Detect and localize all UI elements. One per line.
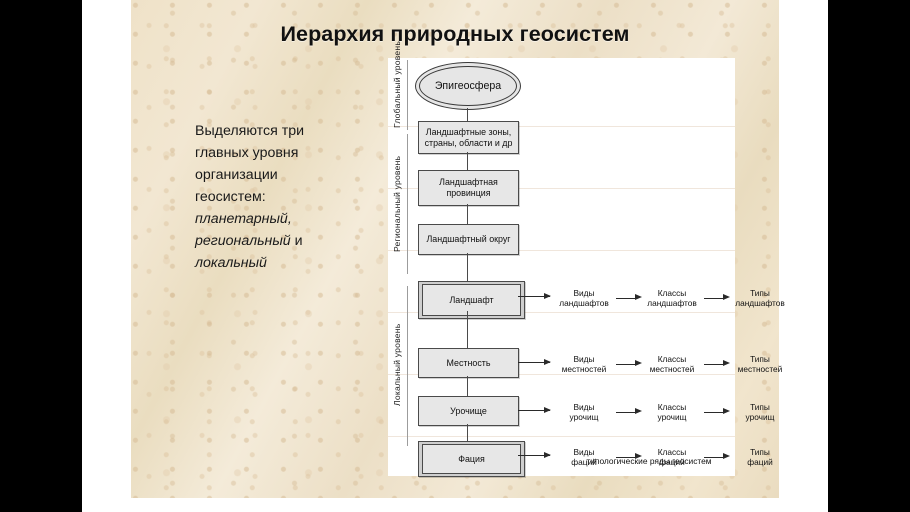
chain-cell: Классы ландшафтов (642, 288, 702, 308)
chain-arrow-icon (614, 293, 642, 303)
guide-line (388, 436, 735, 437)
node-landscape-district-label: Ландшафтный округ (426, 234, 510, 245)
node-locality-label: Местность (447, 358, 491, 369)
connector-vertical (467, 424, 468, 441)
lead-emph-2-row: региональный и (195, 230, 360, 252)
chain-cell: Типы фаций (730, 447, 790, 467)
chain-cell: Классы урочищ (642, 402, 702, 422)
slide: Иерархия природных геосистем Выделяются … (131, 0, 779, 498)
node-landscape-zones-label-2: страны, области и др (425, 138, 513, 149)
node-facies-label: Фация (458, 454, 485, 465)
chain-cell: Типы ландшафтов (730, 288, 790, 308)
node-tract[interactable]: Урочище (418, 396, 519, 426)
level-rule-global (407, 60, 408, 130)
lead-paragraph: Выделяются три главных уровня организаци… (195, 120, 360, 274)
chain-cell-line-1: Типы (730, 402, 790, 412)
lead-line-4: геосистем: (195, 186, 360, 208)
chain-cell-line-1: Виды (554, 354, 614, 364)
chain-arrow-icon (702, 407, 730, 417)
chain-cell-line-1: Классы (642, 288, 702, 298)
hierarchy-diagram: Глобальный уровень Региональный уровень … (388, 58, 735, 476)
node-landscape-province-label-1: Ландшафтная (439, 177, 498, 188)
node-epigeosphere[interactable]: Эпигеосфера (415, 62, 521, 110)
node-landscape-zones-label-1: Ландшафтные зоны, (425, 127, 513, 138)
node-landscape-province[interactable]: Ландшафтная провинция (418, 170, 519, 206)
chain-cell-line-2: ландшафтов (642, 298, 702, 308)
diagram-footnote: типологические ряды геосистем (564, 456, 734, 466)
chain-arrow-icon (702, 293, 730, 303)
chain-tract: Виды урочищ Классы урочищ Типы урочищ (554, 402, 790, 422)
chain-cell-line-1: Классы (642, 354, 702, 364)
lead-conjunction: и (291, 233, 303, 249)
chain-cell: Типы урочищ (730, 402, 790, 422)
node-epigeosphere-label: Эпигеосфера (435, 80, 501, 92)
node-locality[interactable]: Местность (418, 348, 519, 378)
screenshot-root: Иерархия природных геосистем Выделяются … (0, 0, 910, 512)
chain-locality: Виды местностей Классы местностей Типы м… (554, 354, 790, 374)
connector-vertical (467, 152, 468, 170)
chain-cell-line-2: урочищ (642, 412, 702, 422)
lead-emph-1: планетарный, (195, 208, 360, 230)
chain-cell-line-2: местностей (730, 364, 790, 374)
chain-arrow-icon (614, 407, 642, 417)
arrow-landscape-to-chain (518, 296, 550, 297)
chain-cell-line-2: ландшафтов (730, 298, 790, 308)
lead-line-3: организации (195, 164, 360, 186)
lead-line-2: главных уровня (195, 142, 360, 164)
node-facies[interactable]: Фация (418, 441, 525, 477)
level-label-local: Локальный уровень (392, 290, 402, 440)
node-landscape-zones[interactable]: Ландшафтные зоны, страны, области и др (418, 121, 519, 154)
node-tract-label: Урочище (450, 406, 487, 417)
page-title: Иерархия природных геосистем (131, 22, 779, 47)
chain-landscape: Виды ландшафтов Классы ландшафтов Типы л… (554, 288, 790, 308)
chain-cell-line-1: Виды (554, 288, 614, 298)
chain-cell-line-2: фаций (730, 457, 790, 467)
level-rule-regional (407, 134, 408, 274)
chain-cell-line-1: Типы (730, 288, 790, 298)
arrow-locality-to-chain (518, 362, 550, 363)
lead-emph-2: региональный (195, 233, 291, 249)
chain-cell-line-1: Типы (730, 447, 790, 457)
chain-cell: Классы местностей (642, 354, 702, 374)
chain-cell: Виды урочищ (554, 402, 614, 422)
chain-cell-line-2: урочищ (554, 412, 614, 422)
chain-arrow-icon (702, 359, 730, 369)
chain-cell-line-2: ландшафтов (554, 298, 614, 308)
arrow-tract-to-chain (518, 410, 550, 411)
lead-emph-3: локальный (195, 252, 360, 274)
connector-vertical (467, 311, 468, 348)
level-label-global: Глобальный уровень (392, 62, 402, 128)
connector-vertical (467, 376, 468, 396)
chain-cell-line-1: Классы (642, 402, 702, 412)
connector-vertical (467, 253, 468, 281)
connector-vertical (467, 108, 468, 121)
chain-cell-line-2: местностей (642, 364, 702, 374)
chain-cell-line-2: урочищ (730, 412, 790, 422)
node-landscape-province-label-2: провинция (439, 188, 498, 199)
level-rule-local (407, 286, 408, 446)
chain-cell: Виды ландшафтов (554, 288, 614, 308)
node-landscape-district[interactable]: Ландшафтный округ (418, 224, 519, 255)
lead-line-1: Выделяются три (195, 120, 360, 142)
chain-cell-line-1: Типы (730, 354, 790, 364)
level-label-regional: Региональный уровень (392, 136, 402, 271)
chain-arrow-icon (614, 359, 642, 369)
connector-vertical (467, 204, 468, 224)
node-landscape-label: Ландшафт (449, 295, 493, 306)
chain-cell-line-1: Виды (554, 402, 614, 412)
chain-cell: Виды местностей (554, 354, 614, 374)
node-landscape[interactable]: Ландшафт (418, 281, 525, 319)
chain-cell: Типы местностей (730, 354, 790, 374)
arrow-facies-to-chain (518, 455, 550, 456)
chain-cell-line-2: местностей (554, 364, 614, 374)
